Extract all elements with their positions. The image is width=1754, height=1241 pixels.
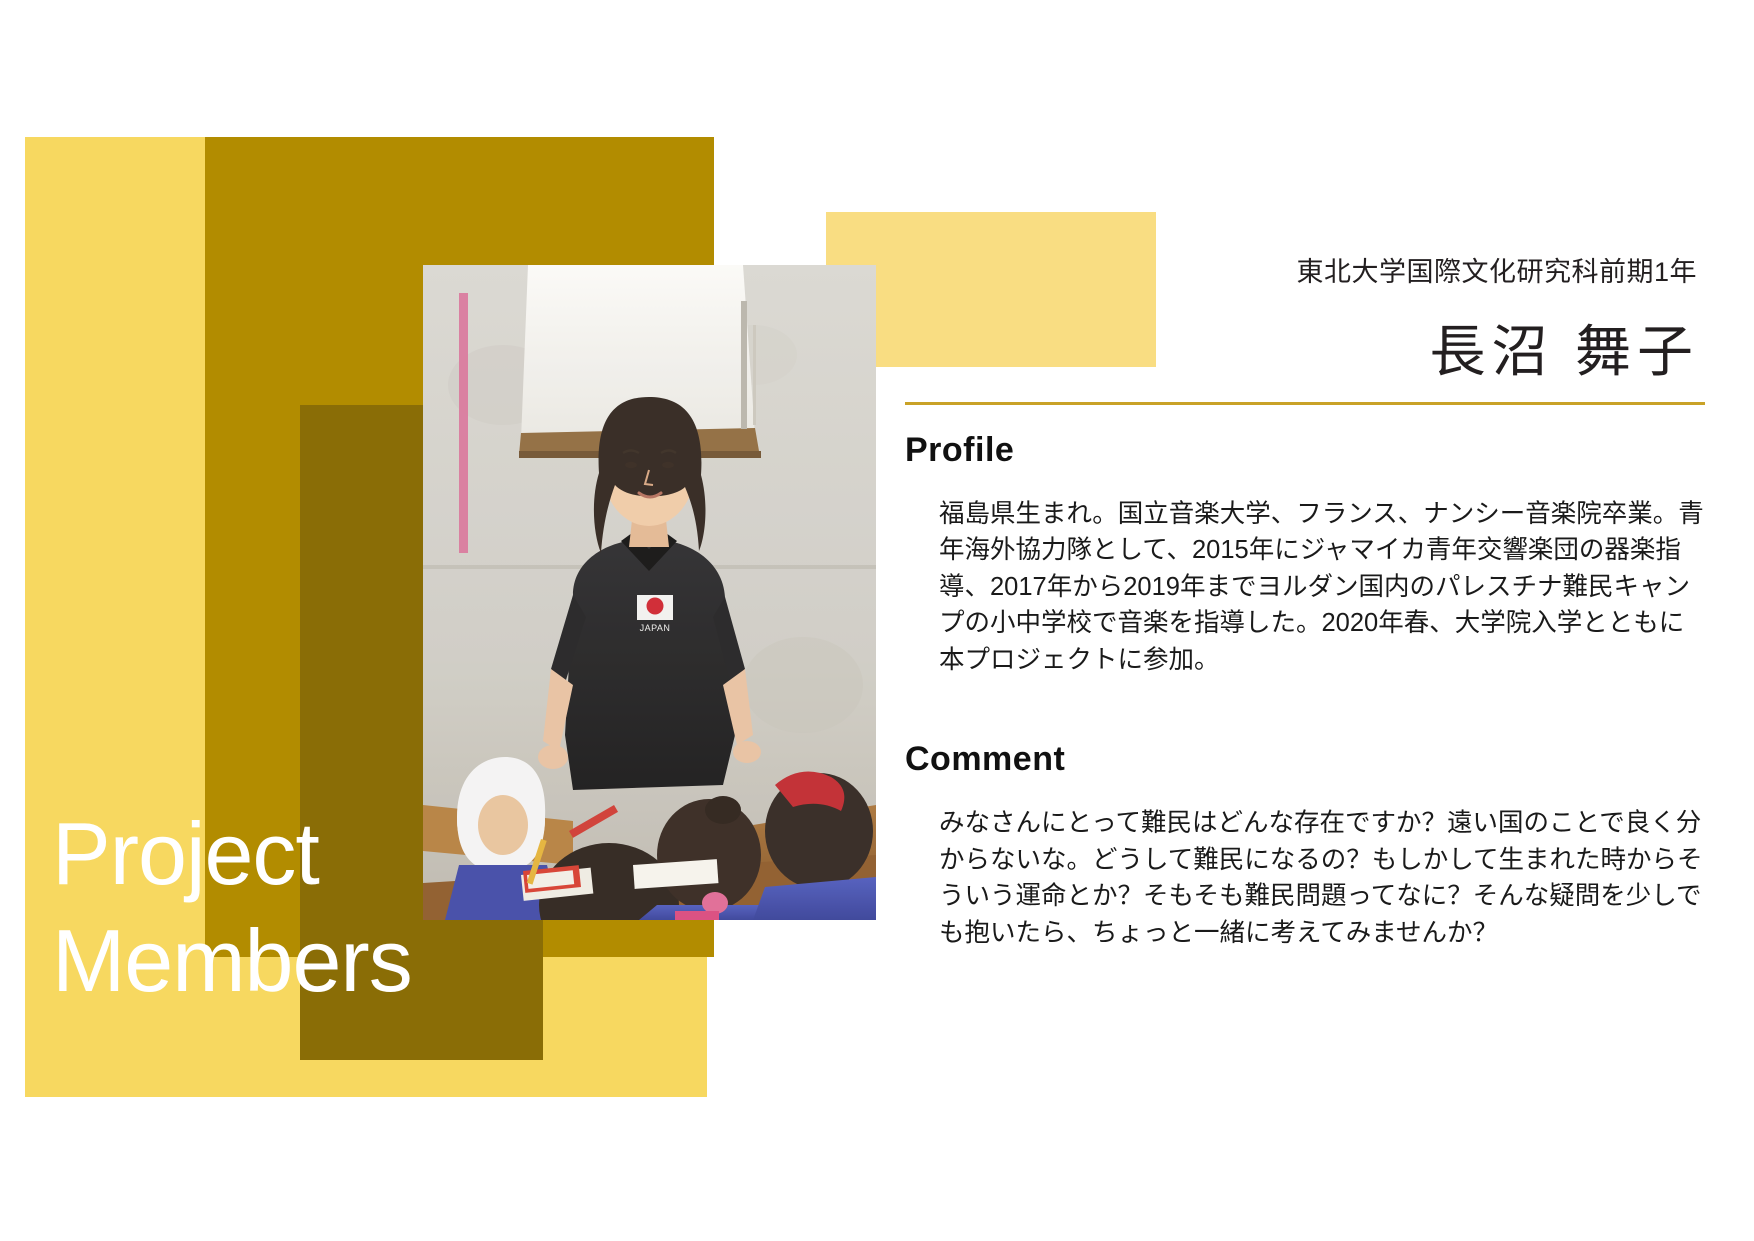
profile-body: 福島県生まれ。国立音楽大学、フランス、ナンシー音楽院卒業。青年海外協力隊として、… bbox=[939, 496, 1705, 678]
comment-heading: Comment bbox=[905, 740, 1705, 779]
member-name: 長沼 舞子 bbox=[905, 307, 1705, 388]
comment-body: みなさんにとって難民はどんな存在ですか？遠い国のことで良く分からないな。どうして… bbox=[939, 805, 1705, 951]
member-photo-image: JAPAN bbox=[423, 265, 876, 920]
profile-heading: Profile bbox=[905, 431, 1705, 470]
affiliation-text: 東北大学国際文化研究科前期1年 bbox=[905, 250, 1705, 289]
gold-divider bbox=[905, 402, 1705, 405]
member-photo: JAPAN bbox=[423, 265, 876, 920]
slide-canvas: Project Members bbox=[0, 0, 1754, 1241]
member-info-panel: 東北大学国際文化研究科前期1年 長沼 舞子 Profile 福島県生まれ。国立音… bbox=[905, 250, 1705, 951]
